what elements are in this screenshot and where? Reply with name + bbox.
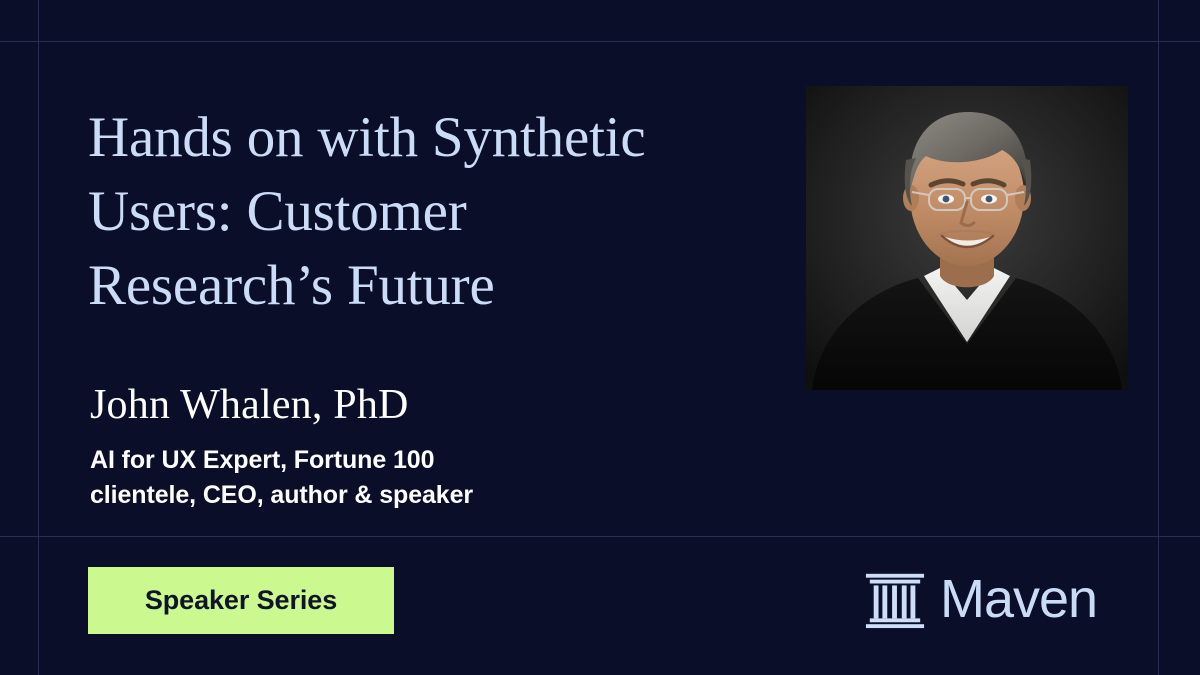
maven-wordmark: Maven <box>940 572 1097 626</box>
maven-brand-lockup: Maven <box>864 563 1097 635</box>
speaker-series-badge-label: Speaker Series <box>145 585 337 616</box>
speaker-portrait <box>806 86 1128 390</box>
speaker-role: AI for UX Expert, Fortune 100 clientele,… <box>90 443 610 513</box>
session-title: Hands on with Synthetic Users: Customer … <box>88 101 778 323</box>
speaker-name: John Whalen, PhD <box>90 381 409 429</box>
grid-line-horizontal-top <box>0 41 1200 42</box>
promo-slide: Hands on with Synthetic Users: Customer … <box>0 0 1200 675</box>
grid-line-horizontal-bottom <box>0 536 1200 537</box>
speaker-series-badge: Speaker Series <box>88 567 394 634</box>
grid-line-vertical-left <box>38 0 39 675</box>
grid-line-vertical-right <box>1158 0 1159 675</box>
greek-temple-columns-icon <box>864 568 926 630</box>
